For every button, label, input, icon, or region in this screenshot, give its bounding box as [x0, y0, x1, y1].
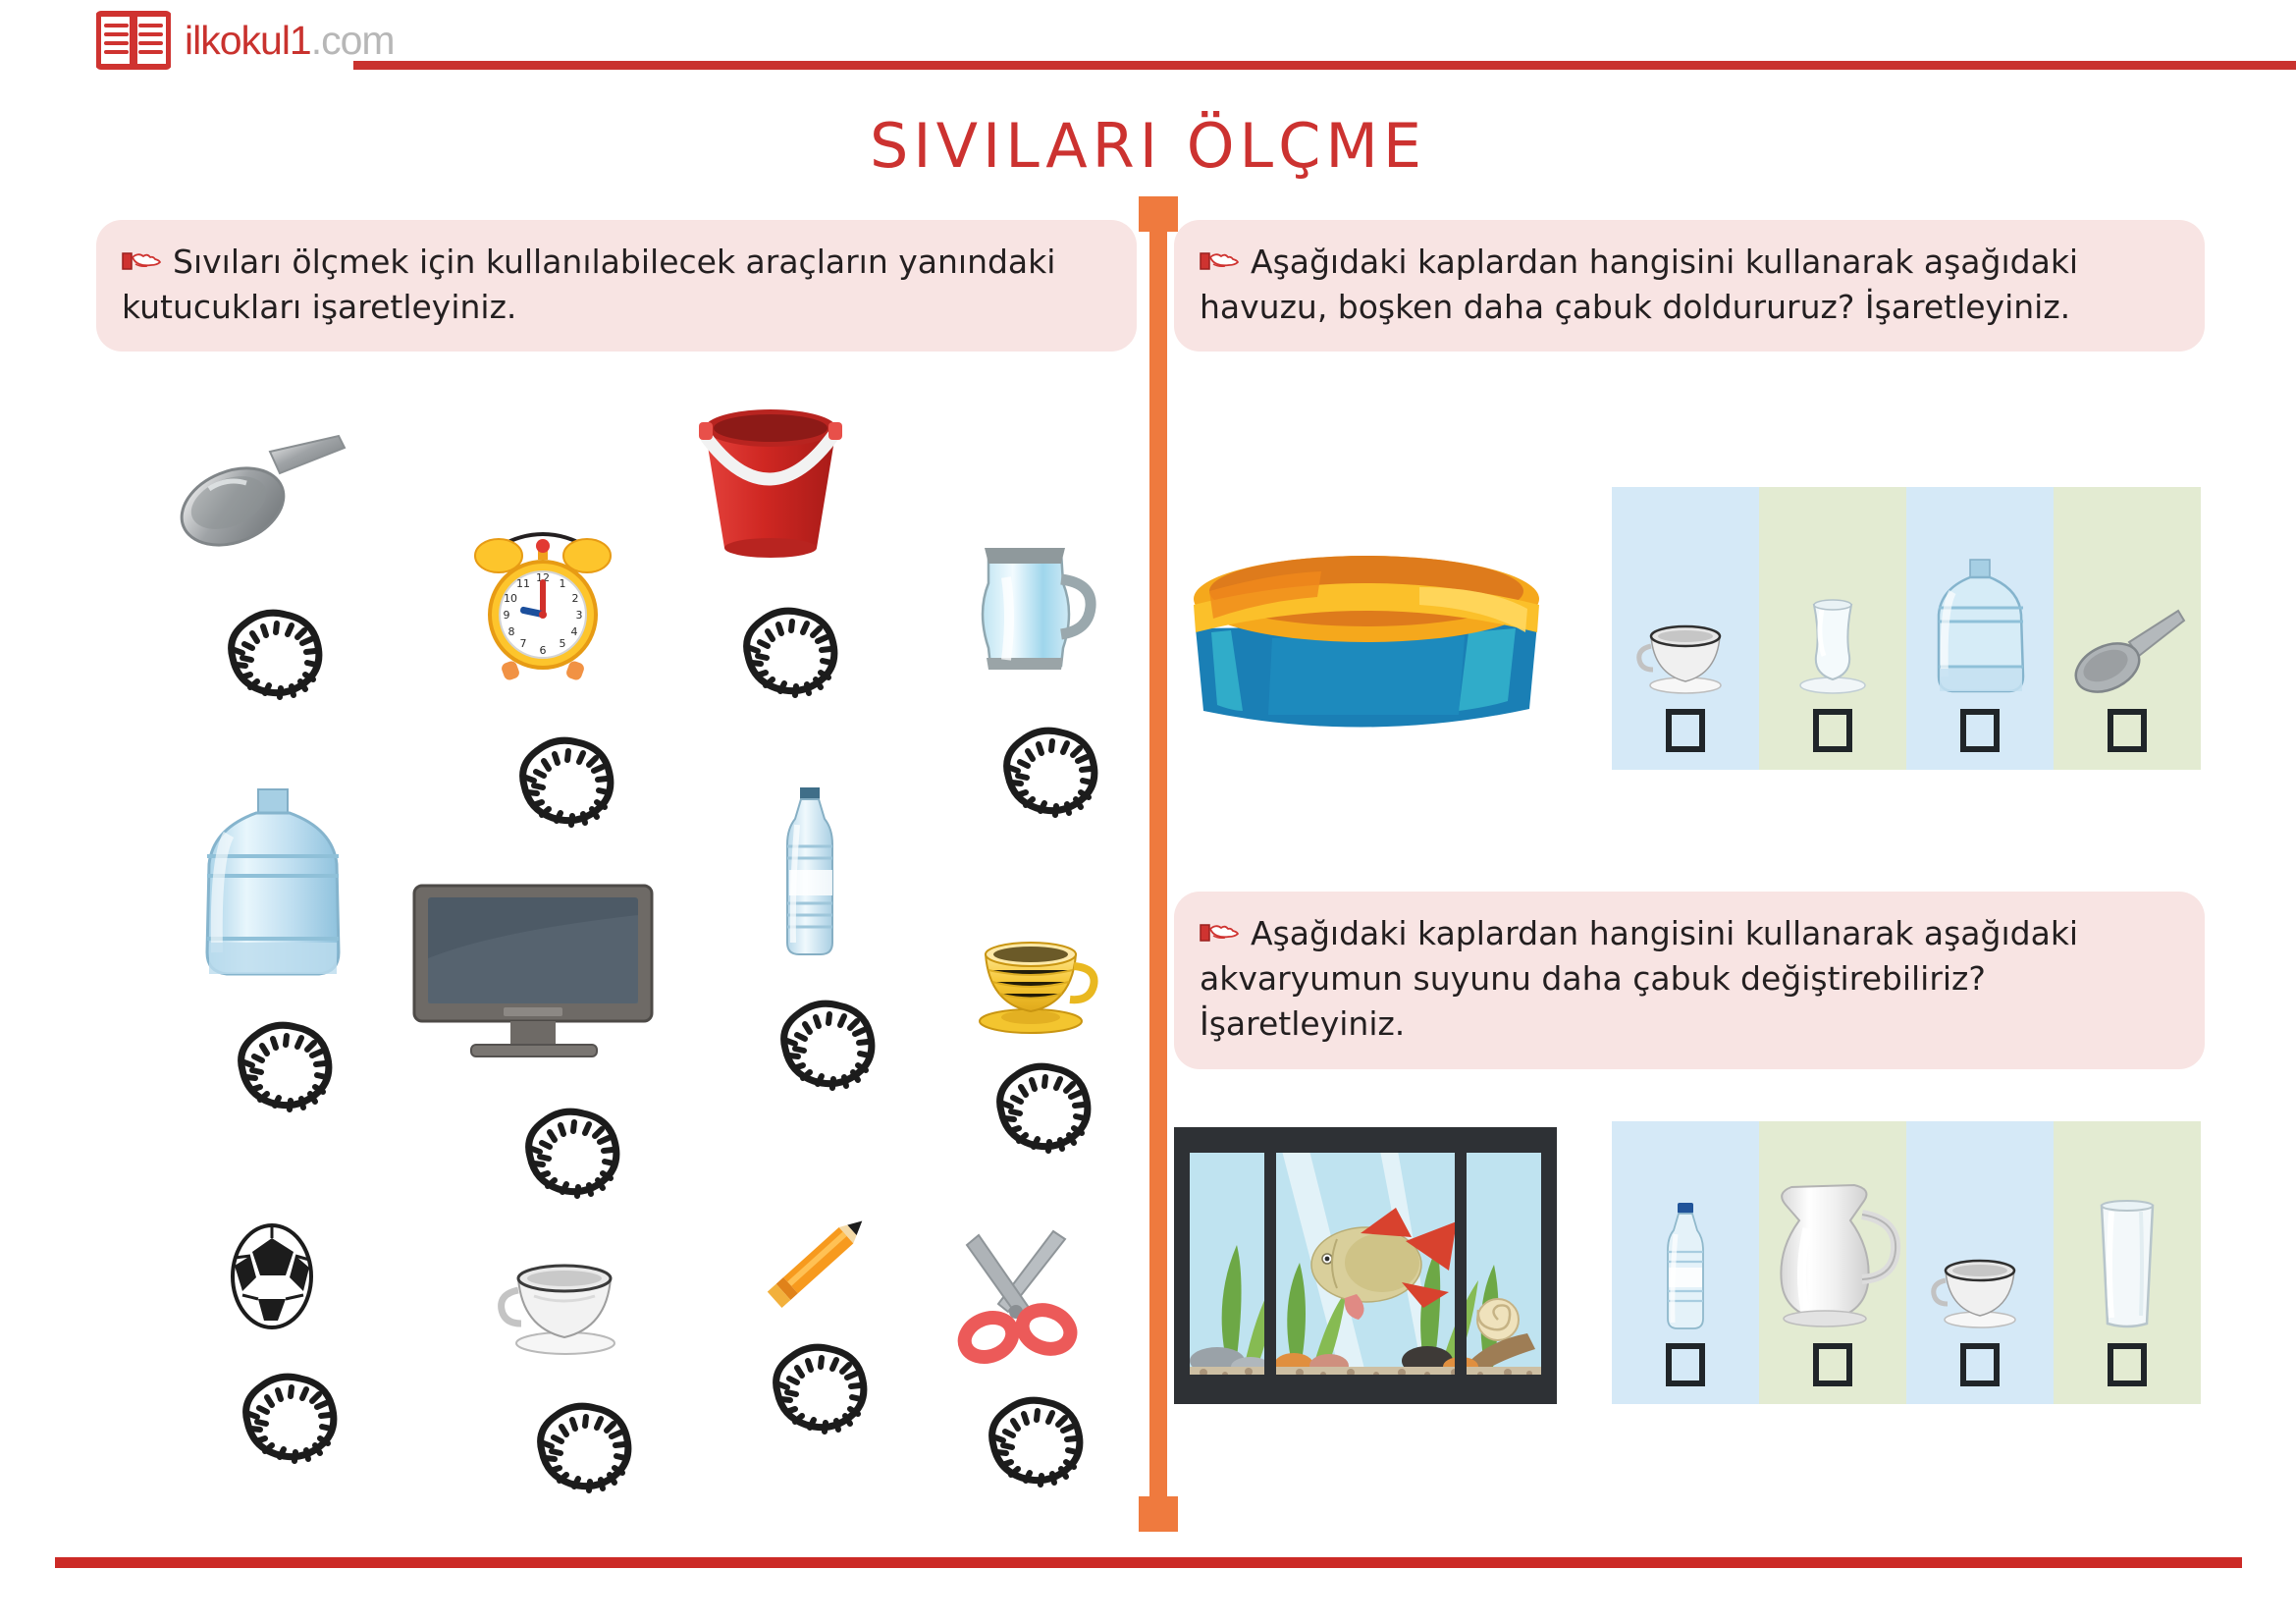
water-bottle-icon: [1658, 1201, 1713, 1333]
item-alarm-clock: 1212 345 678 91011: [469, 518, 616, 685]
checkbox-water-carboy[interactable]: [1960, 709, 2000, 752]
spoon-icon: [172, 432, 358, 569]
white-teacup-icon: [489, 1257, 641, 1360]
svg-text:6: 6: [540, 644, 547, 657]
water-bottle-icon: [775, 785, 844, 962]
pitcher-icon: [967, 530, 1099, 677]
aquarium-icon: [1174, 1127, 1557, 1404]
pointing-hand-icon: [1200, 919, 1239, 947]
svg-text:5: 5: [560, 637, 566, 650]
item-water-carboy: [191, 785, 353, 987]
instruction-right-pool: Aşağıdaki kaplardan hangisini kullanarak…: [1174, 220, 2205, 352]
water-carboy-icon: [191, 785, 353, 982]
checkbox-teacup[interactable]: [1666, 709, 1705, 752]
answer-circle-water-bottle[interactable]: [764, 990, 886, 1103]
vertical-divider: [1139, 196, 1178, 1532]
item-pitcher: [967, 530, 1099, 682]
answer-circle-pencil[interactable]: [756, 1333, 879, 1446]
scissors-icon: [947, 1227, 1090, 1365]
pointing-hand-icon: [122, 247, 161, 275]
page-title: SIVILARI ÖLÇME: [0, 110, 2296, 182]
option-teacup-2[interactable]: [1906, 1121, 2054, 1404]
instruction-right-pool-text: Aşağıdaki kaplardan hangisini kullanarak…: [1200, 243, 2078, 326]
answer-circle-water-carboy[interactable]: [221, 1011, 344, 1124]
pitcher-icon: [1764, 1171, 1901, 1333]
option-strip-pool: [1612, 487, 2201, 770]
svg-text:2: 2: [572, 592, 579, 605]
item-pencil: [751, 1208, 879, 1326]
water-carboy-icon: [1929, 557, 2031, 699]
answer-circle-white-teacup[interactable]: [520, 1392, 643, 1505]
svg-text:3: 3: [576, 609, 583, 622]
teacup-icon: [1926, 1251, 2034, 1333]
answer-circle-soccer-ball[interactable]: [226, 1363, 348, 1476]
svg-text:4: 4: [571, 625, 578, 638]
checkbox-pitcher[interactable]: [1813, 1343, 1852, 1386]
item-yellow-teacup: [962, 933, 1099, 1041]
option-tea-glass-thumb: [1789, 487, 1877, 709]
instruction-right-aquarium: Aşağıdaki kaplardan hangisini kullanarak…: [1174, 892, 2205, 1069]
divider-bar: [1149, 196, 1167, 1532]
checkbox-water-bottle[interactable]: [1666, 1343, 1705, 1386]
item-computer-monitor: [410, 882, 656, 1063]
bucket-icon: [687, 405, 854, 562]
item-spoon: [172, 432, 358, 574]
option-teacup-thumb: [1631, 487, 1739, 709]
spoon-icon: [2068, 601, 2186, 699]
site-logo[interactable]: ilkokul1.com: [96, 10, 395, 71]
paddling-pool-icon: [1174, 522, 1557, 758]
worksheet-page: ilkokul1.com SIVILARI ÖLÇME Sıvıları ölç…: [0, 0, 2296, 1624]
answer-circle-alarm-clock[interactable]: [503, 727, 625, 839]
option-teacup[interactable]: [1612, 487, 1759, 770]
pointing-hand-icon: [1200, 247, 1239, 275]
computer-monitor-icon: [410, 882, 656, 1058]
tea-glass-icon: [1789, 591, 1877, 699]
checkbox-drinking-glass[interactable]: [2108, 1343, 2147, 1386]
option-water-carboy[interactable]: [1906, 487, 2054, 770]
option-strip-aquarium: [1612, 1121, 2201, 1404]
answer-circle-yellow-teacup[interactable]: [980, 1053, 1102, 1165]
item-white-teacup: [489, 1257, 641, 1365]
option-spoon[interactable]: [2054, 487, 2201, 770]
answer-circle-pitcher[interactable]: [987, 717, 1109, 830]
option-pitcher[interactable]: [1759, 1121, 1906, 1404]
answer-circle-bucket[interactable]: [726, 597, 849, 710]
option-water-carboy-thumb: [1929, 487, 2031, 709]
answer-circle-scissors[interactable]: [972, 1386, 1095, 1499]
teacup-icon: [1631, 617, 1739, 699]
answer-circle-spoon[interactable]: [211, 599, 334, 712]
svg-text:1: 1: [560, 577, 566, 590]
instruction-left: Sıvıları ölçmek için kullanılabilecek ar…: [96, 220, 1137, 352]
logo-wordmark: ilkokul1.com: [185, 18, 395, 64]
paddling-pool-image: [1174, 522, 1557, 758]
footer-divider-line: [55, 1557, 2242, 1568]
checkbox-tea-glass[interactable]: [1813, 709, 1852, 752]
option-water-bottle-thumb: [1658, 1121, 1713, 1343]
yellow-teacup-icon: [962, 933, 1099, 1036]
option-teacup-2-thumb: [1926, 1121, 2034, 1343]
pencil-icon: [751, 1208, 879, 1321]
open-book-icon: [96, 10, 171, 71]
soccer-ball-icon: [221, 1222, 324, 1330]
item-bucket: [687, 405, 854, 567]
option-water-bottle[interactable]: [1612, 1121, 1759, 1404]
option-tea-glass[interactable]: [1759, 487, 1906, 770]
header-divider-line: [353, 61, 2296, 70]
svg-text:10: 10: [504, 592, 517, 605]
item-scissors: [947, 1227, 1090, 1370]
answer-circle-computer-monitor[interactable]: [508, 1098, 631, 1211]
aquarium-image: [1174, 1127, 1557, 1404]
svg-text:7: 7: [520, 637, 527, 650]
option-pitcher-thumb: [1764, 1121, 1901, 1343]
divider-cap-bottom: [1139, 1496, 1178, 1532]
item-water-bottle: [775, 785, 844, 967]
instruction-right-aquarium-text: Aşağıdaki kaplardan hangisini kullanarak…: [1200, 914, 2078, 1043]
instruction-left-text: Sıvıları ölçmek için kullanılabilecek ar…: [122, 243, 1055, 326]
option-spoon-thumb: [2068, 487, 2186, 709]
page-header: ilkokul1.com: [0, 0, 2296, 98]
alarm-clock-icon: 1212 345 678 91011: [469, 518, 616, 680]
checkbox-teacup-2[interactable]: [1960, 1343, 2000, 1386]
svg-text:9: 9: [504, 609, 510, 622]
checkbox-spoon[interactable]: [2108, 709, 2147, 752]
logo-tld: .com: [311, 18, 395, 63]
logo-name: ilkokul1: [185, 18, 311, 63]
drinking-glass-icon: [2090, 1200, 2164, 1333]
option-drinking-glass[interactable]: [2054, 1121, 2201, 1404]
svg-text:8: 8: [508, 625, 515, 638]
option-drinking-glass-thumb: [2090, 1121, 2164, 1343]
item-soccer-ball: [221, 1222, 324, 1335]
svg-text:11: 11: [516, 577, 530, 590]
